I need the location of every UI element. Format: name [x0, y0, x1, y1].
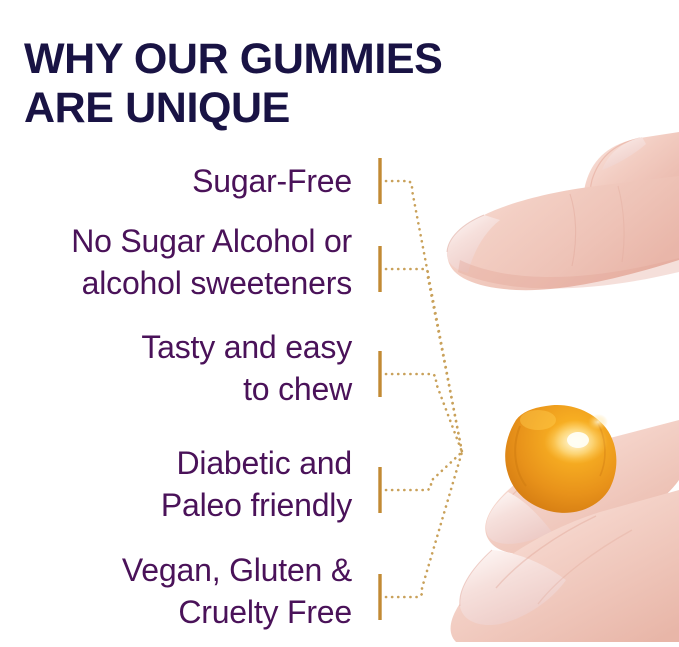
why-our-gummies-are-unique-infographic: WHY OUR GUMMIES ARE UNIQUE	[0, 0, 679, 647]
benefit-item-tasty-easy-to-chew: Tasty and easy to chew	[0, 326, 366, 410]
hand-illustration	[400, 120, 679, 647]
hand-holding-gummy-photo	[400, 120, 679, 647]
benefit-item-diabetic-paleo-friendly: Diabetic and Paleo friendly	[0, 442, 366, 526]
fingers	[447, 132, 679, 290]
page-title: WHY OUR GUMMIES ARE UNIQUE	[24, 35, 664, 133]
benefit-item-vegan-gluten-cruelty-free: Vegan, Gluten & Cruelty Free	[0, 549, 366, 633]
benefit-item-no-sugar-alcohol: No Sugar Alcohol or alcohol sweeteners	[0, 220, 366, 304]
benefit-item-sugar-free: Sugar-Free	[0, 160, 366, 202]
